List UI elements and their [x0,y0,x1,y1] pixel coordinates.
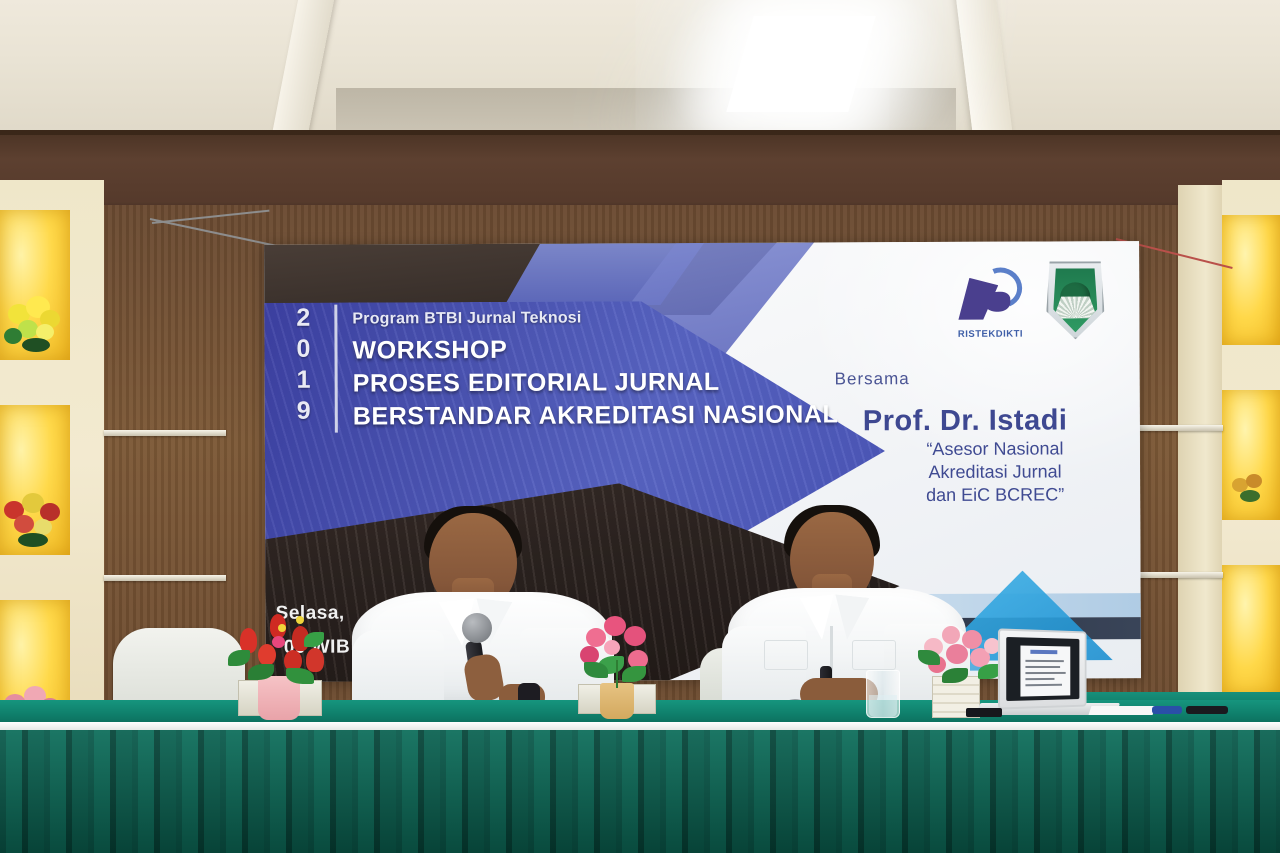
niche-bouquet-yellow [2,294,66,354]
table-skirt [0,730,1280,853]
wall-niche-right-3 [1222,565,1280,695]
laptop[interactable] [998,628,1087,709]
banner-speaker-role: “Asesor Nasional Akreditasi Jurnal dan E… [865,437,1125,507]
water-glass [866,670,900,718]
banner-heading-2: PROSES EDITORIAL JURNAL [353,368,720,399]
ristekdikti-logo-icon: RISTEKDIKTI [954,264,1026,340]
presenter-remote [1186,706,1228,714]
wall-rail-lower [104,575,226,581]
banner-year: 2 0 1 9 [296,303,311,427]
niche-bouquet-red [0,489,66,549]
cream-wall-right [1222,180,1280,740]
blue-marker [1152,706,1182,714]
ceiling-beam-left [270,0,336,145]
pink-rose-arrangement [918,626,1004,686]
red-tulip-arrangement [226,614,338,690]
mobile-phone-right [966,708,1002,717]
laptop-screen[interactable] [1006,637,1079,701]
laptop-document [1020,646,1070,697]
ceiling-beam-right [955,0,1014,142]
wall-niche-right-1 [1222,215,1280,345]
wall-rail-upper [104,430,226,436]
banner-with-label: Bersama [835,369,910,389]
wall-niche-2 [0,405,70,555]
niche-bouquet-right [1230,472,1274,510]
banner-year-divider [334,305,338,433]
banner-heading-1: WORKSHOP [352,336,507,366]
ristekdikti-blob-icon [984,292,1010,312]
crest-field [1053,268,1097,332]
document-title-bar [1030,650,1057,654]
banner-speaker-name: Prof. Dr. Istadi [863,404,1068,438]
cream-wall-left [0,180,104,740]
banner-program-label: Program BTBI Jurnal Teknosi [352,310,581,329]
tan-pot [600,683,634,719]
ristekdikti-label: RISTEKDIKTI [954,329,1026,340]
wall-niche-1 [0,210,70,360]
wood-header-beam [0,130,1280,216]
cream-column-right [1178,185,1224,740]
banner-heading-3: BERSTANDAR AKREDITASI NASIONAL [353,400,839,431]
wall-niche-right-2 [1222,390,1280,520]
speaker-right-pocket-left [764,640,808,670]
pink-carnation-arrangement [578,616,660,688]
conference-room-photo: 2 0 1 9 Program BTBI Jurnal Teknosi WORK… [0,0,1280,853]
speaker-right-pocket-right [852,640,896,670]
papers [1089,706,1156,715]
handheld-microphone-head-icon [462,613,492,643]
